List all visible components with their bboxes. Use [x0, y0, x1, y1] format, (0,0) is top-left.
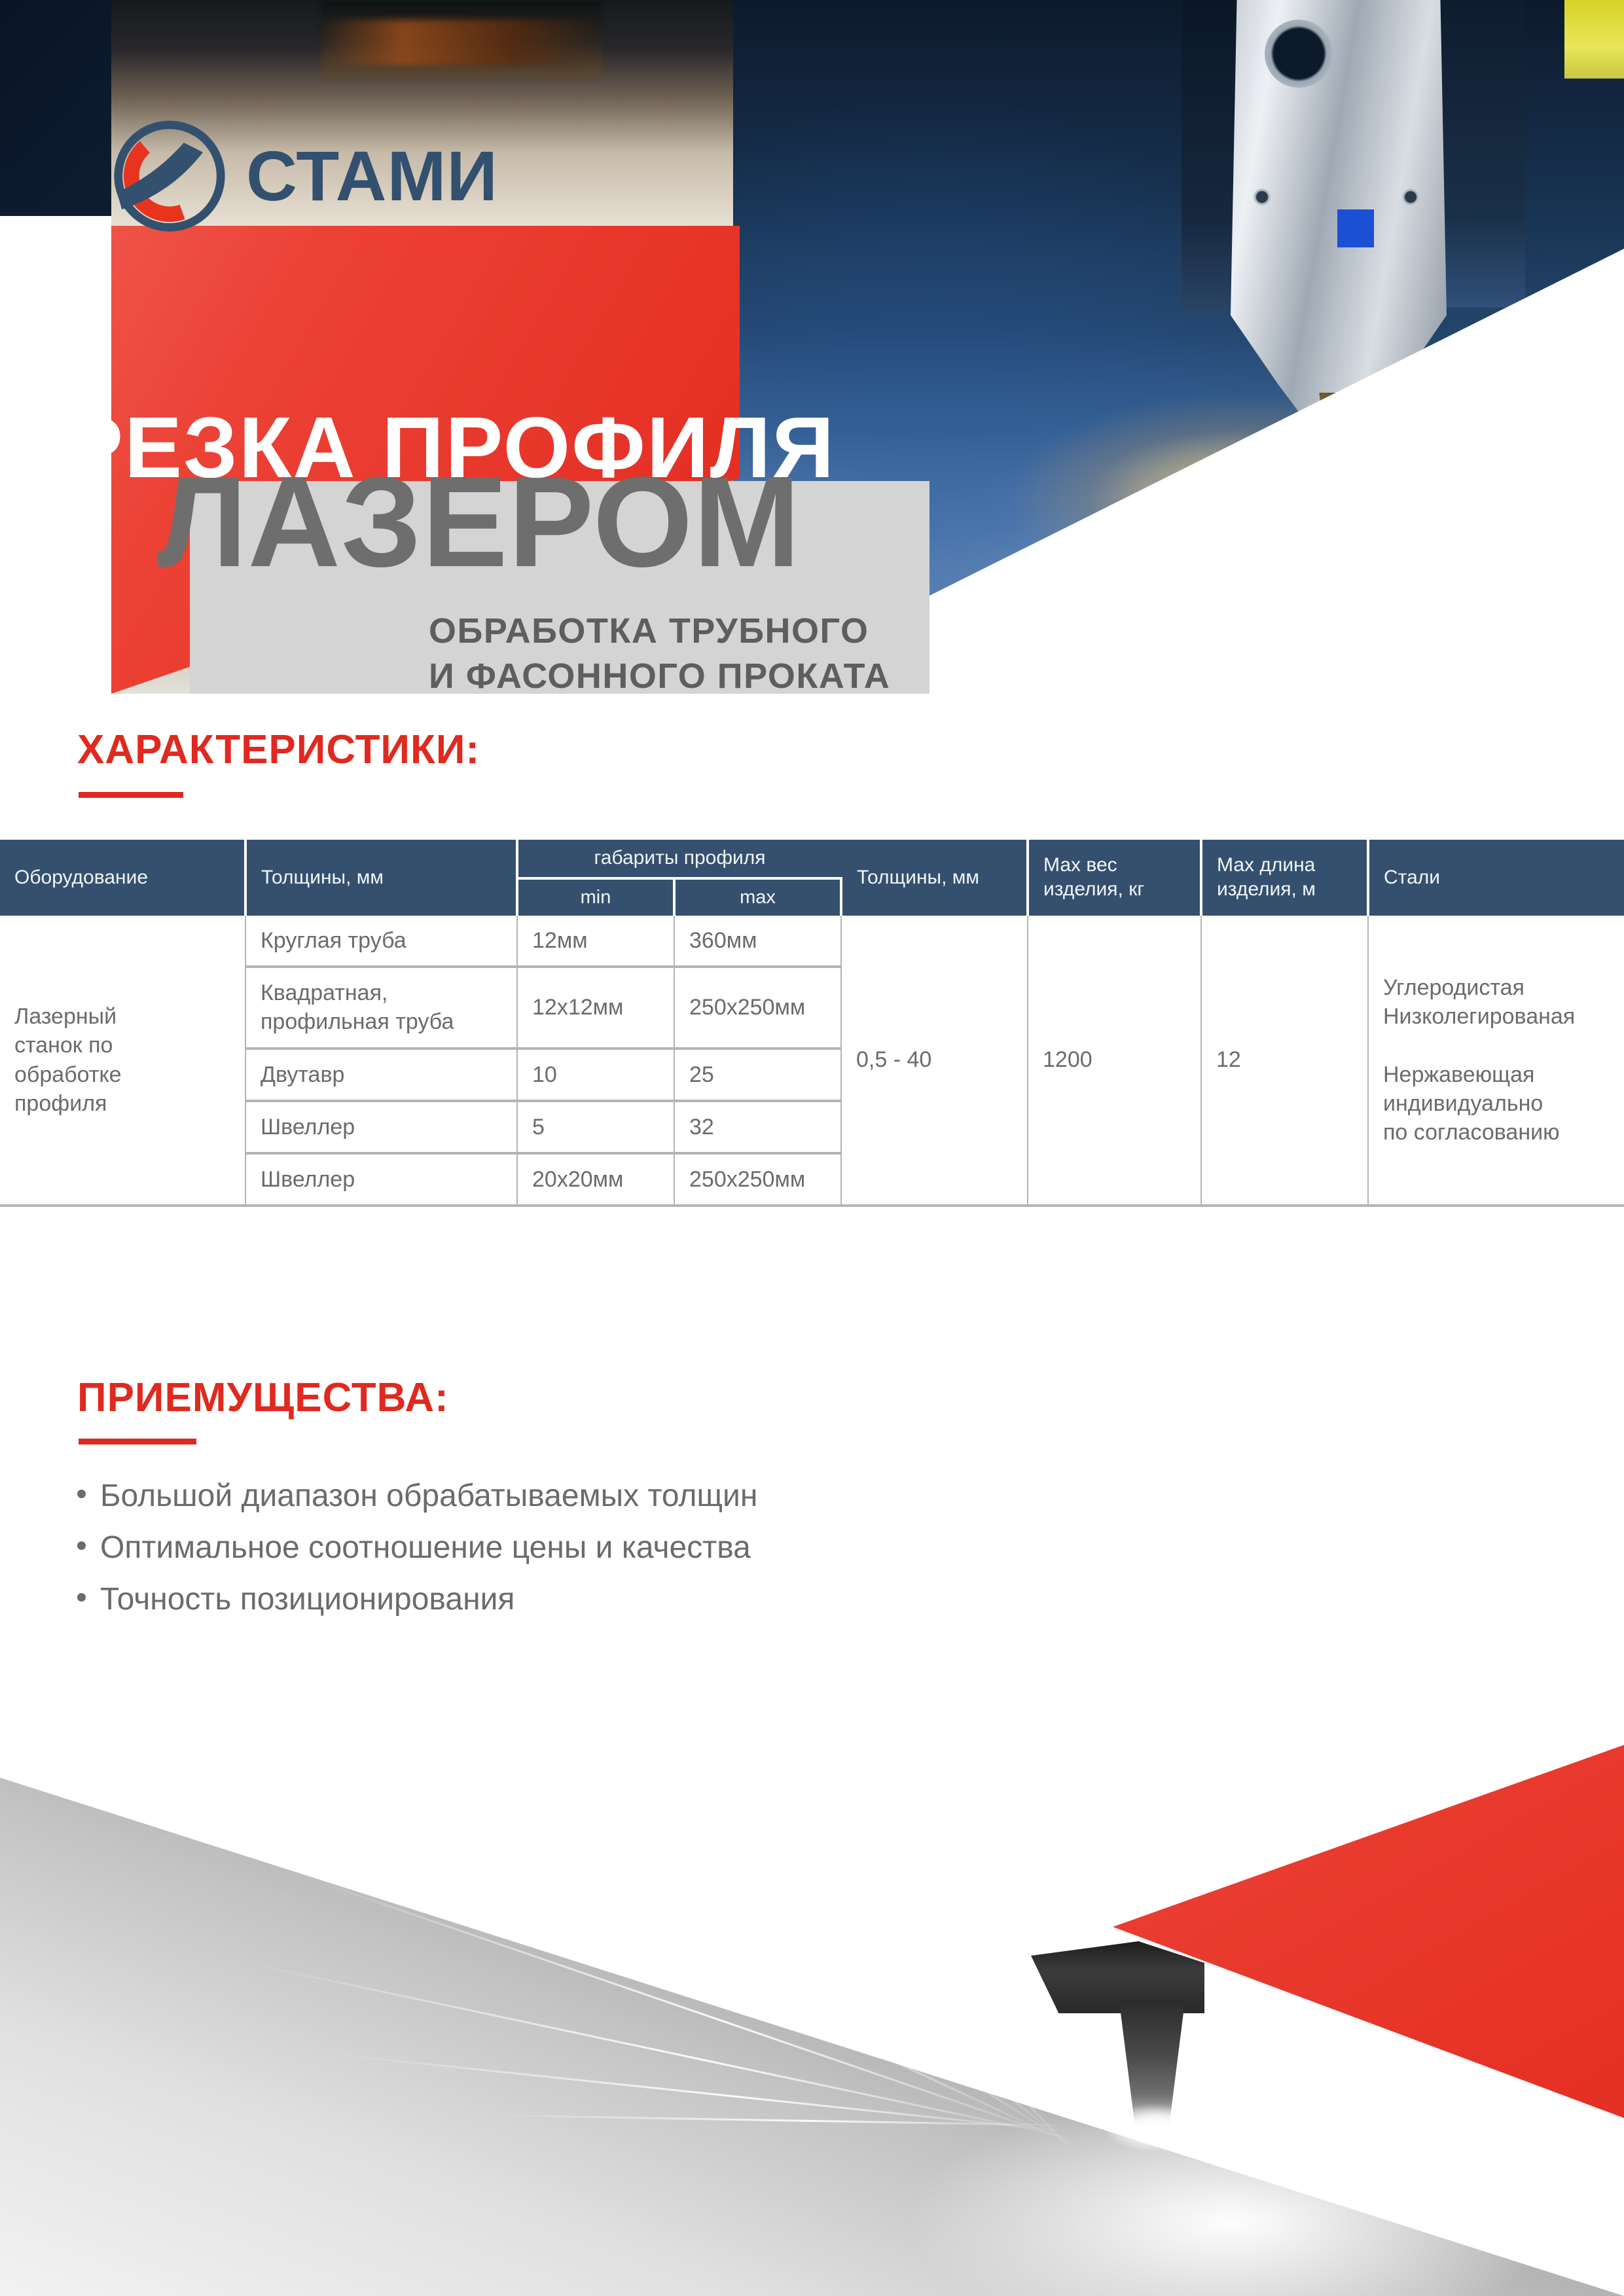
cell-max-weight: 1200 [1028, 916, 1201, 1206]
blue-label-icon [1337, 209, 1374, 247]
footer-image [0, 1634, 1624, 2296]
footer-laser-glow-icon [1106, 2105, 1204, 2151]
th-min: min [517, 878, 674, 916]
section-rule-advantages [79, 1439, 196, 1444]
section-heading-characteristics: ХАРАКТЕРИСТИКИ: [77, 730, 480, 770]
th-equipment: Оборудование [0, 840, 245, 916]
yellow-panel-icon [1564, 0, 1624, 79]
cell-min: 5 [517, 1101, 674, 1153]
cell-profile: Круглая труба [245, 916, 517, 967]
cell-profile: Швеллер [245, 1101, 517, 1153]
cell-min: 10 [517, 1049, 674, 1101]
th-thickness-2: Толщины, мм [841, 840, 1028, 916]
laser-lens-icon [1265, 20, 1333, 88]
table-header-row-main: Оборудование Толщины, мм габариты профил… [0, 840, 1624, 878]
cell-profile: Швеллер [245, 1153, 517, 1206]
list-item: Большой диапазон обрабатываемых толщин [77, 1473, 757, 1520]
th-max: max [674, 878, 841, 916]
section-heading-advantages: ПРИЕМУЩЕСТВА: [77, 1378, 449, 1418]
cell-min: 20х20мм [517, 1153, 674, 1206]
hero-banner: СТАМИ РЕЗКА ПРОФИЛЯ ЛАЗЕРОМ ОБРАБОТКА ТР… [0, 0, 1624, 694]
stami-logo-icon [110, 117, 229, 236]
list-item-label: Точность позиционирования [100, 1582, 514, 1617]
cell-max: 250х250мм [674, 1153, 841, 1206]
brand-name: СТАМИ [246, 141, 498, 211]
cell-profile: Квадратная, профильная труба [245, 967, 517, 1048]
poster-page: СТАМИ РЕЗКА ПРОФИЛЯ ЛАЗЕРОМ ОБРАБОТКА ТР… [0, 0, 1624, 2296]
photo-rust-band [321, 20, 596, 65]
bullet-dot-icon [77, 1593, 86, 1602]
screw-dot-icon [1254, 188, 1271, 206]
th-max-weight: Мах вес изделия, кг [1028, 840, 1201, 916]
specs-table: Оборудование Толщины, мм габариты профил… [0, 840, 1624, 1207]
list-item-label: Большой диапазон обрабатываемых толщин [100, 1479, 757, 1513]
th-profile-dimensions: габариты профиля [517, 840, 841, 878]
cell-steels: Углеродистая Низколегированая Нержавеюща… [1368, 916, 1624, 1206]
cell-max: 360мм [674, 916, 841, 967]
hero-title-line2: ЛАЗЕРОМ [157, 458, 801, 586]
specs-table-body: Лазерный станок по обработке профиля Кру… [0, 916, 1624, 1206]
screw-dot-icon [1402, 188, 1419, 206]
cell-profile: Двутавр [245, 1049, 517, 1101]
list-item: Точность позиционирования [77, 1576, 757, 1624]
cell-thickness-2: 0,5 - 40 [841, 916, 1028, 1206]
cell-max: 25 [674, 1049, 841, 1101]
laser-housing-right-icon [1440, 0, 1525, 308]
specs-table-wrapper: Оборудование Толщины, мм габариты профил… [0, 840, 1624, 1329]
cell-equipment: Лазерный станок по обработке профиля [0, 916, 245, 1206]
hero-subtitle: ОБРАБОТКА ТРУБНОГО И ФАСОННОГО ПРОКАТА [429, 609, 890, 694]
cell-max: 32 [674, 1101, 841, 1153]
cell-max: 250х250мм [674, 967, 841, 1048]
list-item-label: Оптимальное соотношение цены и качества [100, 1530, 751, 1565]
table-row: Лазерный станок по обработке профиля Кру… [0, 916, 1624, 967]
th-steels: Стали [1368, 840, 1624, 916]
section-rule-characteristics [79, 792, 183, 798]
cell-min: 12х12мм [517, 967, 674, 1048]
th-max-length: Мах длина изделия, м [1201, 840, 1368, 916]
bullet-dot-icon [77, 1541, 86, 1550]
specs-table-head: Оборудование Толщины, мм габариты профил… [0, 840, 1624, 916]
brand-logo[interactable]: СТАМИ [110, 117, 498, 236]
advantages-list: Большой диапазон обрабатываемых толщин О… [77, 1473, 757, 1628]
th-thickness-1: Толщины, мм [245, 840, 517, 916]
bullet-dot-icon [77, 1490, 86, 1498]
cell-max-length: 12 [1201, 916, 1368, 1206]
list-item: Оптимальное соотношение цены и качества [77, 1524, 757, 1572]
cell-min: 12мм [517, 916, 674, 967]
